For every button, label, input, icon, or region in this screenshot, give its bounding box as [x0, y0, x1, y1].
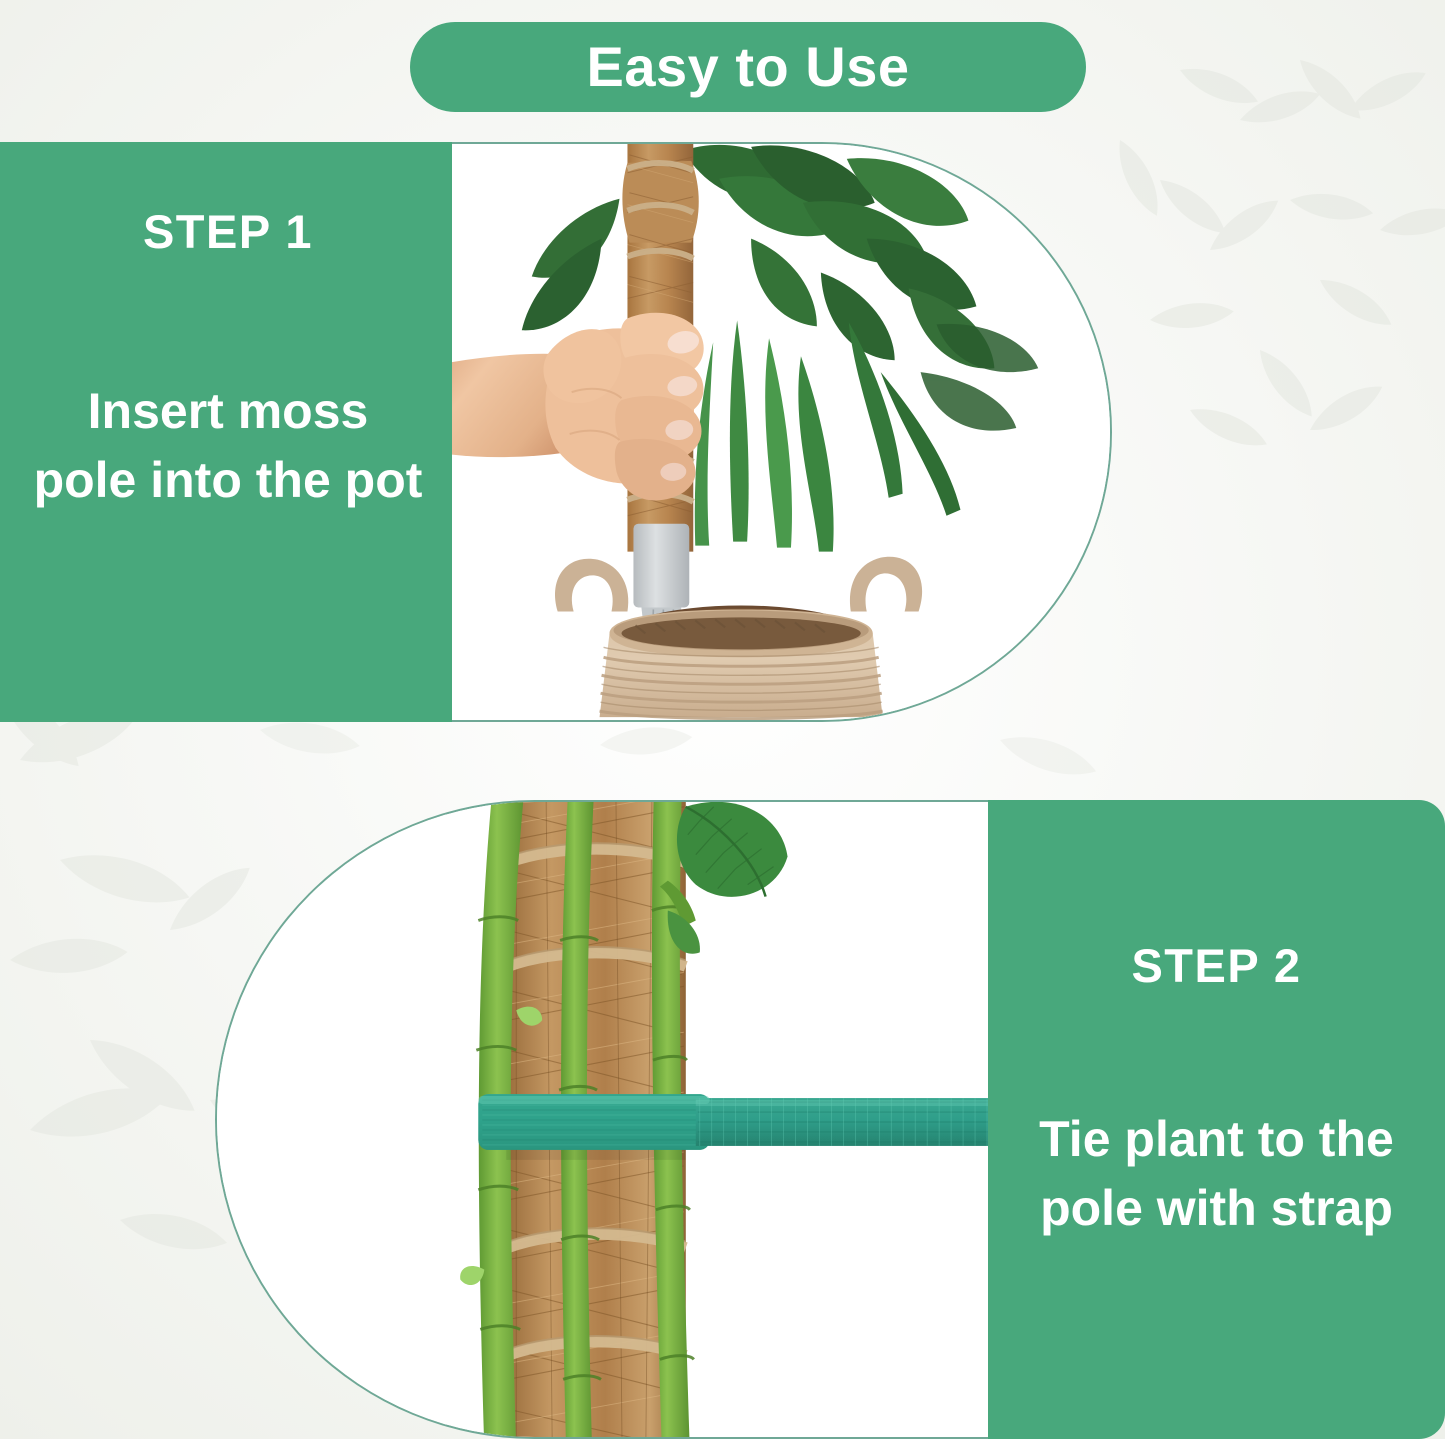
- step-1-description-line-2: pole into the pot: [8, 446, 448, 515]
- step-1-description: Insert moss pole into the pot: [8, 377, 448, 515]
- step-1-section: STEP 1 Insert moss pole into the pot: [0, 142, 1445, 722]
- step-1-label: STEP 1: [143, 204, 313, 259]
- page-title-banner: Easy to Use: [410, 22, 1086, 112]
- step-1-description-line-1: Insert moss: [8, 377, 448, 446]
- step-2-description: Tie plant to the pole with strap: [1002, 1105, 1432, 1243]
- step-1-text-panel: STEP 1 Insert moss pole into the pot: [0, 142, 456, 722]
- step-2-label: STEP 2: [1131, 938, 1301, 993]
- step-2-text-panel: STEP 2 Tie plant to the pole with strap: [988, 800, 1445, 1439]
- step-2-section: STEP 2 Tie plant to the pole with strap: [0, 800, 1445, 1439]
- step-2-description-line-1: Tie plant to the: [1002, 1105, 1432, 1174]
- step-2-photo: [215, 800, 995, 1439]
- step-1-photo: [452, 142, 1112, 722]
- page-title: Easy to Use: [587, 39, 910, 95]
- step-2-description-line-2: pole with strap: [1002, 1174, 1432, 1243]
- hand-inserting-moss-pole-illustration: [452, 144, 1110, 720]
- moss-pole-strap-illustration: [217, 802, 995, 1437]
